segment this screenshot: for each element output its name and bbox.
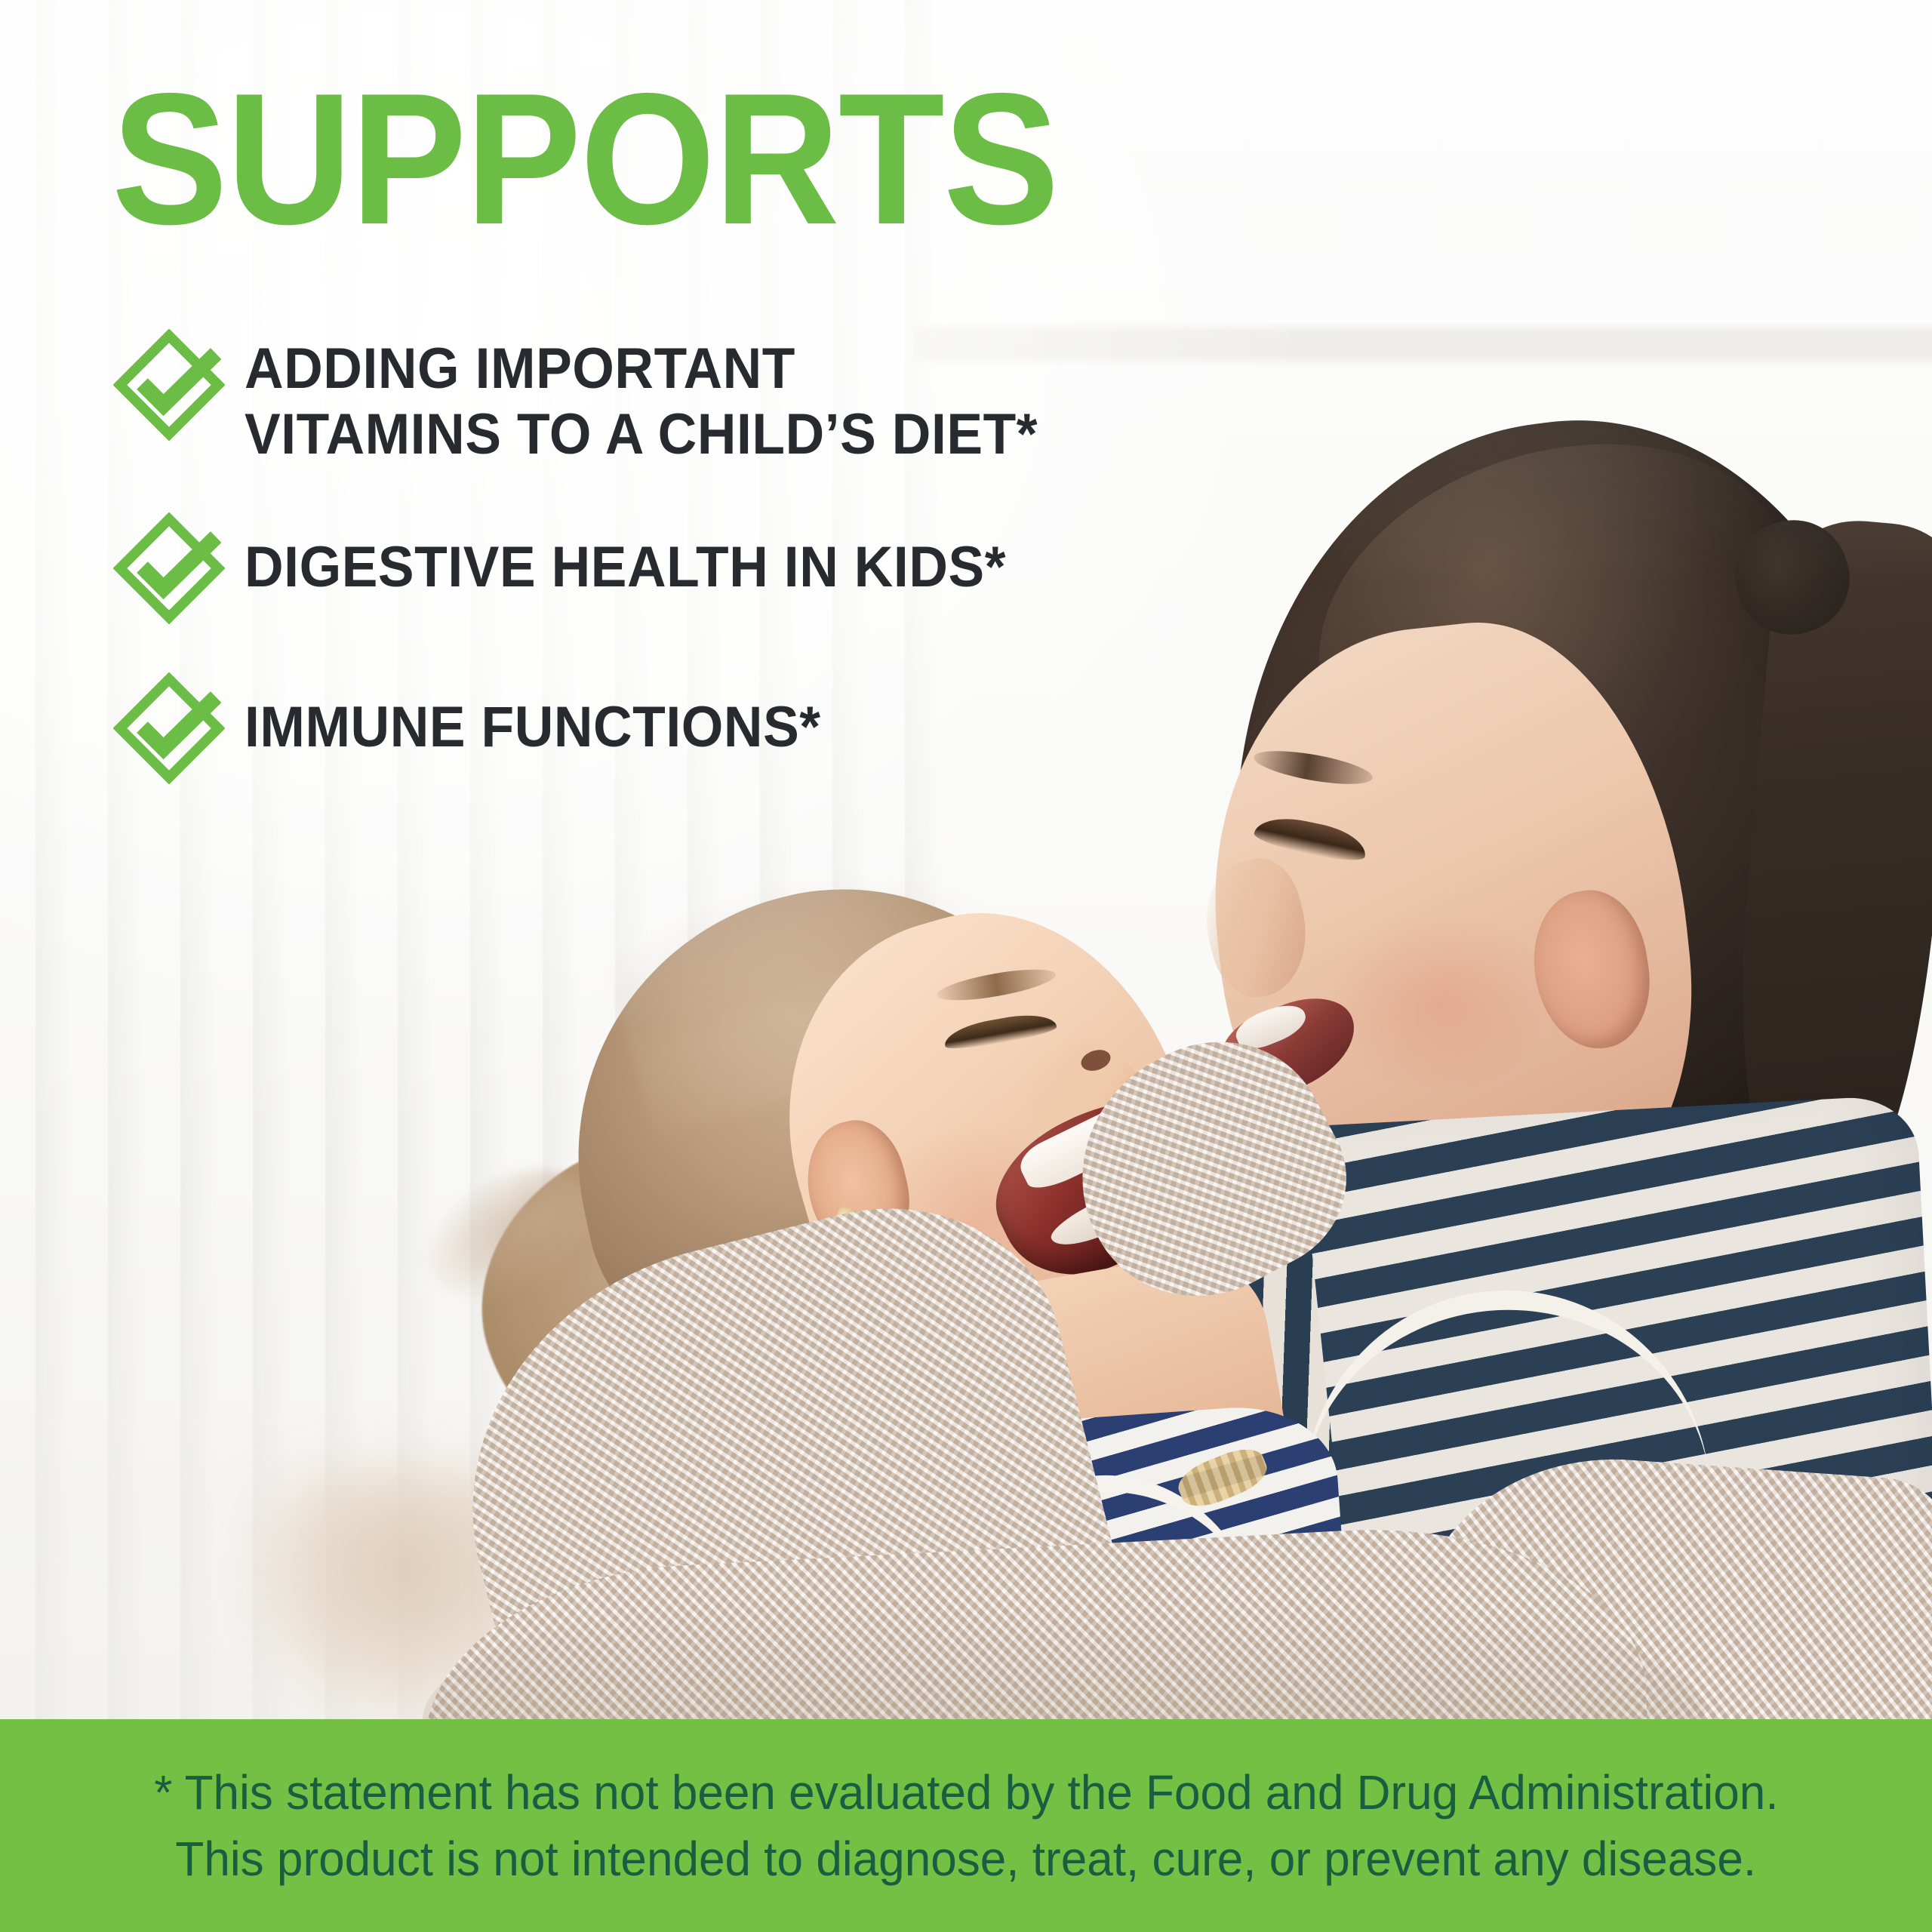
mother-cheek-blush bbox=[1328, 913, 1555, 1094]
diamond-check-icon bbox=[113, 672, 225, 784]
diamond-check-icon bbox=[113, 329, 225, 441]
disclaimer-line-2: This product is not intended to diagnose… bbox=[176, 1826, 1757, 1892]
benefit-label: IMMUNE FUNCTIONS* bbox=[245, 669, 821, 761]
benefit-label: ADDING IMPORTANT VITAMINS TO A CHILD’S D… bbox=[245, 326, 1038, 467]
fda-disclaimer-band: * This statement has not been evaluated … bbox=[0, 1719, 1932, 1932]
product-benefits-panel: SUPPORTS ADDING IMPORTANT VITAMINS TO A … bbox=[0, 0, 1932, 1932]
benefit-label: DIGESTIVE HEALTH IN KIDS* bbox=[245, 509, 1006, 601]
benefit-item: ADDING IMPORTANT VITAMINS TO A CHILD’S D… bbox=[113, 326, 1396, 467]
disclaimer-line-1: * This statement has not been evaluated … bbox=[154, 1759, 1778, 1826]
diamond-check-icon bbox=[113, 512, 225, 624]
knit-bottom-shadow bbox=[423, 1600, 1706, 1719]
benefit-item: DIGESTIVE HEALTH IN KIDS* bbox=[113, 509, 1396, 624]
benefits-list: ADDING IMPORTANT VITAMINS TO A CHILD’S D… bbox=[113, 326, 1396, 826]
page-title: SUPPORTS bbox=[112, 72, 1058, 245]
benefit-item: IMMUNE FUNCTIONS* bbox=[113, 669, 1396, 784]
